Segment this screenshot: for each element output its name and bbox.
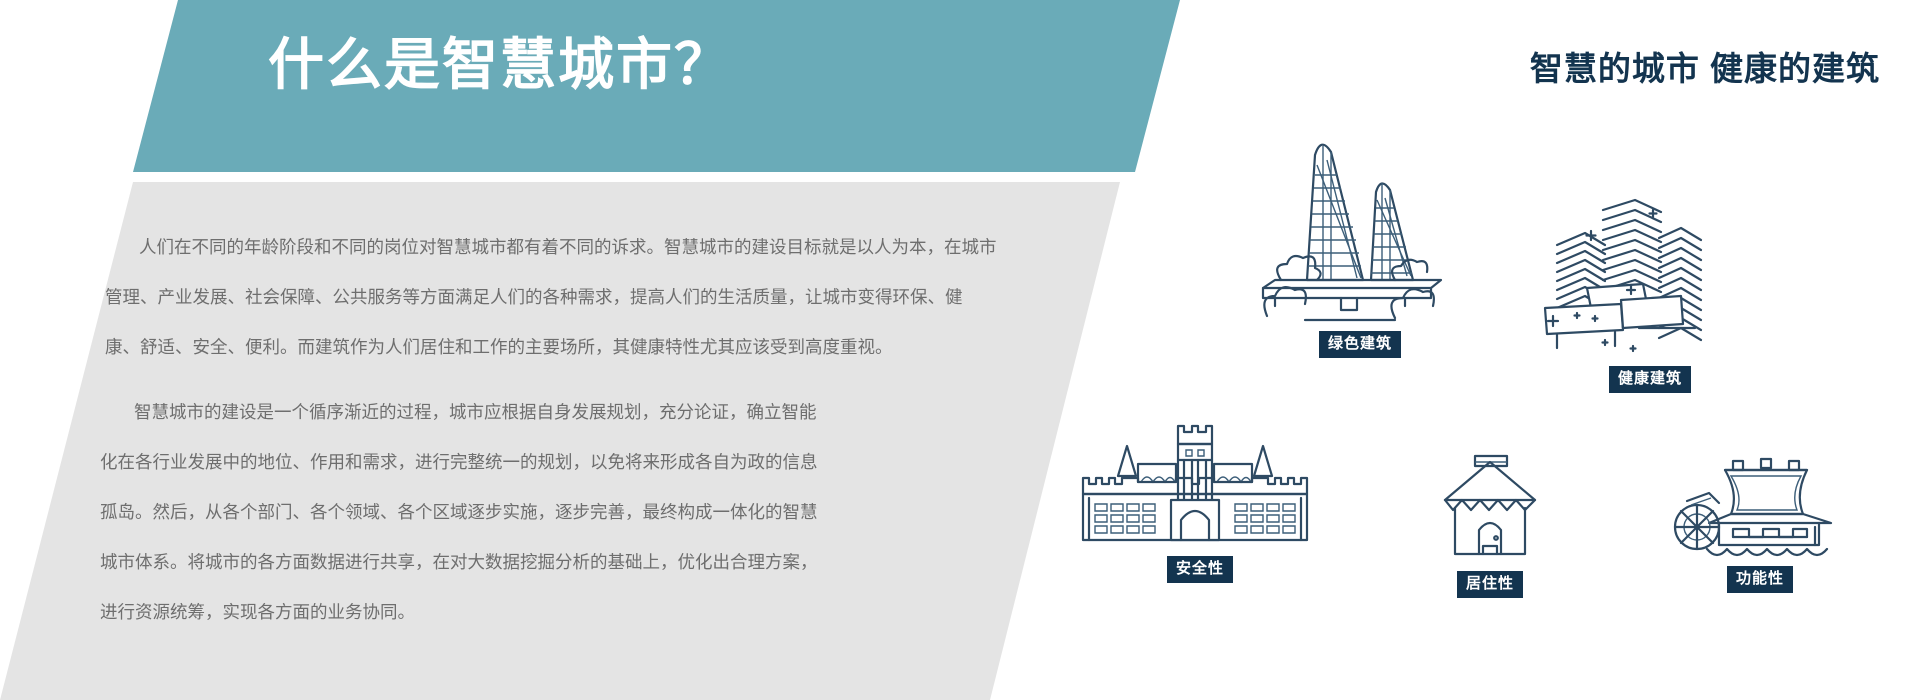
paragraph-2: 智慧城市的建设是一个循序渐近的过程，城市应根据自身发展规划，充分论证，确立智能 … — [100, 387, 818, 637]
paragraph-1-line-2: 管理、产业发展、社会保障、公共服务等方面满足人们的各种需求，提高人们的生活质量，… — [105, 272, 997, 322]
badge-livability: 居住性 — [1457, 571, 1523, 598]
paragraph-1-line-1: 人们在不同的年龄阶段和不同的岗位对智慧城市都有着不同的诉求。智慧城市的建设目标就… — [105, 222, 997, 272]
paragraph-2-line-4: 城市体系。将城市的各方面数据进行共享，在对大数据挖掘分析的基础上，优化出合理方案… — [100, 537, 818, 587]
page-title: 什么是智慧城市？ — [268, 34, 732, 96]
icon-cell-green-building: 绿色建筑 — [1220, 120, 1500, 358]
paragraph-2-line-2: 化在各行业发展中的地位、作用和需求，进行完整统一的规划，以免将来形成各自为政的信… — [100, 437, 818, 487]
icon-cell-health-building: 健康建筑 — [1510, 200, 1790, 393]
watermill-icon — [1673, 445, 1848, 560]
icon-cell-safety: 安全性 — [1030, 420, 1370, 583]
content-panel: 人们在不同的年龄阶段和不同的岗位对智慧城市都有着不同的诉求。智慧城市的建设目标就… — [0, 182, 1120, 700]
poster-stage: 什么是智慧城市？ 智慧的城市 健康的建筑 人们在不同的年龄阶段和不同的岗位对智慧… — [0, 0, 1920, 700]
castle-icon — [1075, 420, 1325, 550]
icon-grid: 绿色建筑 — [1040, 120, 1920, 700]
badge-health-building: 健康建筑 — [1609, 366, 1691, 393]
badge-safety: 安全性 — [1167, 556, 1233, 583]
icon-cell-functionality: 功能性 — [1620, 445, 1900, 593]
header-slogan: 智慧的城市 健康的建筑 — [1530, 42, 1880, 90]
paragraph-1: 人们在不同的年龄阶段和不同的岗位对智慧城市都有着不同的诉求。智慧城市的建设目标就… — [105, 222, 997, 372]
badge-functionality: 功能性 — [1727, 566, 1793, 593]
twin-towers-icon — [1245, 120, 1475, 325]
paragraph-1-line-3: 康、舒适、安全、便利。而建筑作为人们居住和工作的主要场所，其健康特性尤其应该受到… — [105, 322, 997, 372]
paragraph-2-line-5: 进行资源统筹，实现各方面的业务协同。 — [100, 587, 818, 637]
paragraph-2-line-1: 智慧城市的建设是一个循序渐近的过程，城市应根据自身发展规划，充分论证，确立智能 — [100, 387, 818, 437]
badge-green-building: 绿色建筑 — [1319, 331, 1401, 358]
house-icon — [1435, 450, 1545, 565]
hospital-highrise-icon — [1535, 200, 1765, 360]
icon-cell-livability: 居住性 — [1380, 450, 1600, 598]
paragraph-2-line-3: 孤岛。然后，从各个部门、各个领域、各个区域逐步实施，逐步完善，最终构成一体化的智… — [100, 487, 818, 537]
